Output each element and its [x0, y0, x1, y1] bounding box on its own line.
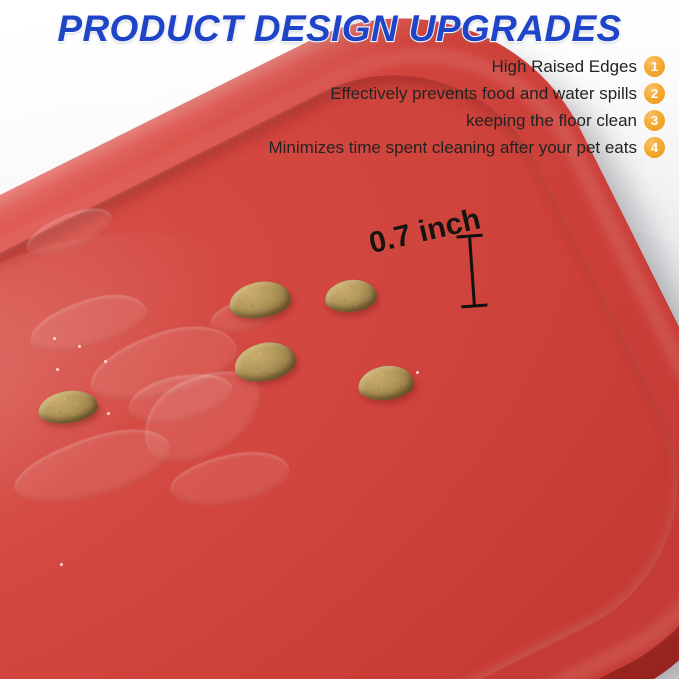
feature-item: keeping the floor clean 3 [466, 108, 665, 132]
feature-item: High Raised Edges 1 [491, 54, 665, 78]
feature-number-badge: 2 [644, 83, 665, 104]
feature-list: High Raised Edges 1 Effectively prevents… [268, 54, 665, 159]
page-title: PRODUCT DESIGN UPGRADES [0, 8, 679, 50]
product-feature-image: 0.7 inch PRODUCT DESIGN UPGRADES High Ra… [0, 0, 679, 679]
dimension-i-beam-icon [452, 231, 491, 311]
feature-number-badge: 4 [644, 137, 665, 158]
feature-item: Minimizes time spent cleaning after your… [268, 135, 665, 159]
feature-item: Effectively prevents food and water spil… [330, 81, 665, 105]
feature-label: High Raised Edges [491, 58, 637, 75]
feature-number-badge: 3 [644, 110, 665, 131]
feature-label: Effectively prevents food and water spil… [330, 85, 637, 102]
feature-number-badge: 1 [644, 56, 665, 77]
feature-label: Minimizes time spent cleaning after your… [268, 139, 637, 156]
feature-label: keeping the floor clean [466, 112, 637, 129]
